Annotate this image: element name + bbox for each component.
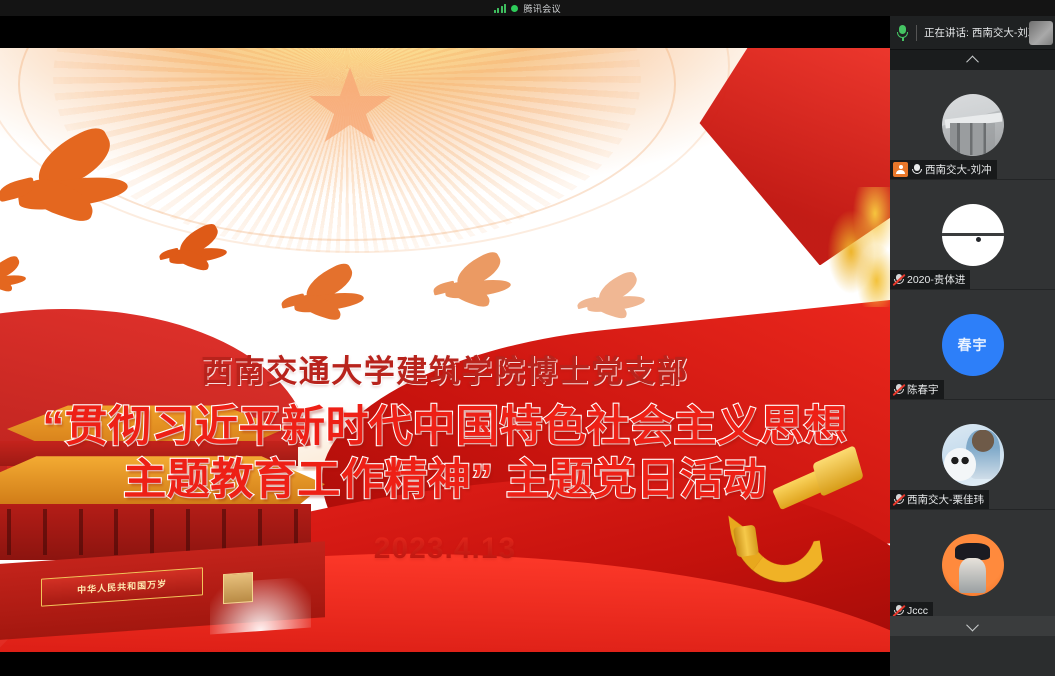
microphone-active-icon: [896, 25, 909, 41]
slide-title-line-1: “贯彻习近平新时代中国特色社会主义思想: [43, 402, 848, 453]
letterbox-top: [0, 16, 890, 48]
participant-label: 西南交大-刘冲: [890, 160, 997, 179]
divider: [916, 25, 917, 41]
active-speaker-label: 正在讲话: 西南交大-刘冲:: [924, 25, 1041, 40]
active-speaker-bar: 正在讲话: 西南交大-刘冲:: [890, 16, 1055, 50]
os-top-bar: 腾讯会议: [0, 0, 1055, 16]
participant-tile-list[interactable]: 西南交大-刘冲2020-贵体进春宇陈春宇西南交大-栗佳玮Jccc: [890, 70, 1055, 616]
participant-label: 西南交大-栗佳玮: [890, 490, 989, 509]
participant-name: 西南交大-刘冲: [925, 162, 992, 177]
slide-date: 2023.4.13: [374, 532, 516, 566]
chevron-down-icon: [966, 618, 979, 631]
microphone-muted-icon: [893, 273, 904, 286]
participant-label: 陈春宇: [890, 380, 944, 399]
slide-title-line-2: 主题教育工作精神” 主题党日活动: [123, 455, 766, 506]
avatar: [942, 204, 1004, 266]
microphone-muted-icon: [893, 493, 904, 506]
signal-bars-icon: [494, 4, 507, 13]
slide-organization-line: 西南交通大学建筑学院博士党支部: [201, 346, 689, 391]
participant-label: 2020-贵体进: [890, 270, 970, 289]
avatar: 春宇: [942, 314, 1004, 376]
participant-tile[interactable]: 西南交大-栗佳玮: [890, 400, 1055, 510]
participant-name: 西南交大-栗佳玮: [907, 492, 984, 507]
participant-name: 陈春宇: [907, 382, 939, 397]
avatar: [942, 424, 1004, 486]
participant-name: 2020-贵体进: [907, 272, 965, 287]
active-speaker-thumbnail: [1029, 21, 1053, 45]
participant-name: Jccc: [907, 605, 928, 617]
microphone-icon: [911, 163, 922, 176]
host-badge-icon: [893, 162, 908, 177]
presentation-slide: 中华人民共和国万岁 西南交通大学建筑学院博士党支部 “贯彻习近平新时代中国特色社…: [0, 48, 890, 652]
scroll-down-button[interactable]: [890, 616, 1055, 636]
participant-tile[interactable]: 2020-贵体进: [890, 180, 1055, 290]
avatar: [942, 534, 1004, 596]
chevron-up-icon: [966, 55, 979, 68]
participant-tile[interactable]: Jccc: [890, 510, 1055, 616]
microphone-muted-icon: [893, 383, 904, 396]
participant-tile[interactable]: 春宇陈春宇: [890, 290, 1055, 400]
scroll-up-button[interactable]: [890, 50, 1055, 70]
letterbox-bottom: [0, 652, 890, 676]
shared-screen-stage[interactable]: 中华人民共和国万岁 西南交通大学建筑学院博士党支部 “贯彻习近平新时代中国特色社…: [0, 48, 890, 652]
participant-panel: 正在讲话: 西南交大-刘冲: 西南交大-刘冲2020-贵体进春宇陈春宇西南交大-…: [890, 16, 1055, 676]
avatar: [942, 94, 1004, 156]
green-status-dot: [511, 5, 518, 12]
participant-tile[interactable]: 西南交大-刘冲: [890, 70, 1055, 180]
app-name-label: 腾讯会议: [523, 2, 561, 15]
participant-label: Jccc: [890, 602, 933, 616]
tencent-meeting-window: 腾讯会议: [0, 0, 1055, 676]
slide-text-block: 西南交通大学建筑学院博士党支部 “贯彻习近平新时代中国特色社会主义思想 主题教育…: [0, 48, 890, 652]
microphone-muted-icon: [893, 604, 904, 616]
